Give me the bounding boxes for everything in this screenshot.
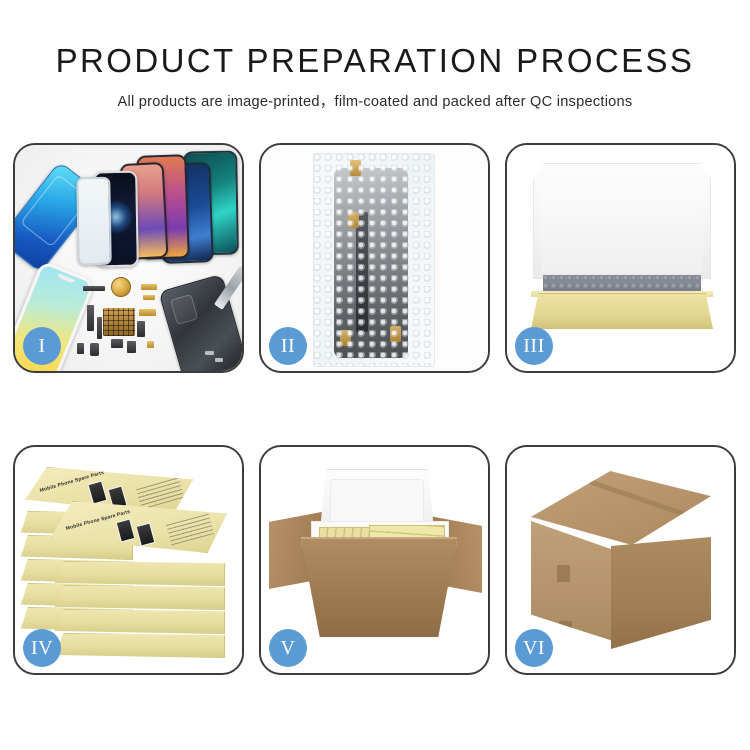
bubble-wrap-bag xyxy=(313,153,435,367)
stacked-box xyxy=(55,585,225,610)
small-part xyxy=(90,343,99,356)
step-badge-1: I xyxy=(23,327,61,365)
small-part xyxy=(141,284,157,290)
screen-icon xyxy=(116,518,136,542)
small-part xyxy=(147,341,154,348)
page-title: PRODUCT PREPARATION PROCESS xyxy=(0,44,750,79)
step-badge-6: VI xyxy=(515,629,553,667)
tempered-glass-sheet xyxy=(76,177,112,266)
step-panel-5: V xyxy=(259,445,490,675)
step-badge-4: IV xyxy=(23,629,61,667)
screen-icon xyxy=(136,522,156,546)
step-panel-3: III xyxy=(505,143,736,373)
vibrator-motor-part xyxy=(111,277,131,297)
small-screw xyxy=(215,358,223,362)
process-step-grid: I II xyxy=(13,143,737,675)
small-part xyxy=(127,341,136,353)
small-part xyxy=(111,339,123,348)
small-part xyxy=(83,286,105,291)
stacked-box xyxy=(55,609,225,634)
bubble-texture-overlay xyxy=(314,154,434,366)
carton-front-face xyxy=(531,521,613,641)
carton-tape-tab xyxy=(557,565,570,582)
small-part xyxy=(77,343,84,354)
label-fineprint xyxy=(166,513,214,546)
step-badge-2: II xyxy=(269,327,307,365)
step-badge-3: III xyxy=(515,327,553,365)
ic-chip-array xyxy=(103,308,135,336)
header: PRODUCT PREPARATION PROCESS All products… xyxy=(0,0,750,111)
label-fineprint xyxy=(136,476,184,509)
step-panel-1: I xyxy=(13,143,244,373)
carton-tape-tab xyxy=(559,621,572,638)
step-panel-2: II xyxy=(259,143,490,373)
page-subtitle: All products are image-printed，film-coat… xyxy=(0,90,750,111)
product-preparation-infographic: PRODUCT PREPARATION PROCESS All products… xyxy=(0,0,750,750)
small-part xyxy=(87,305,94,331)
stacked-box xyxy=(55,561,225,586)
small-screw xyxy=(205,351,214,355)
yellow-box-tray xyxy=(531,293,713,329)
step-panel-6: VI xyxy=(505,445,736,675)
small-part xyxy=(97,317,102,339)
screen-icon xyxy=(87,480,107,504)
small-part xyxy=(137,321,145,337)
small-part xyxy=(143,295,155,300)
carton-body xyxy=(301,539,457,637)
step-badge-5: V xyxy=(269,629,307,667)
small-part xyxy=(139,309,156,316)
stacked-box xyxy=(55,633,225,658)
carton-side-face xyxy=(611,537,711,649)
foam-sheet xyxy=(541,189,703,273)
step-panel-4: Mobile Phone Spare Parts Mobile Phone Sp… xyxy=(13,445,244,675)
